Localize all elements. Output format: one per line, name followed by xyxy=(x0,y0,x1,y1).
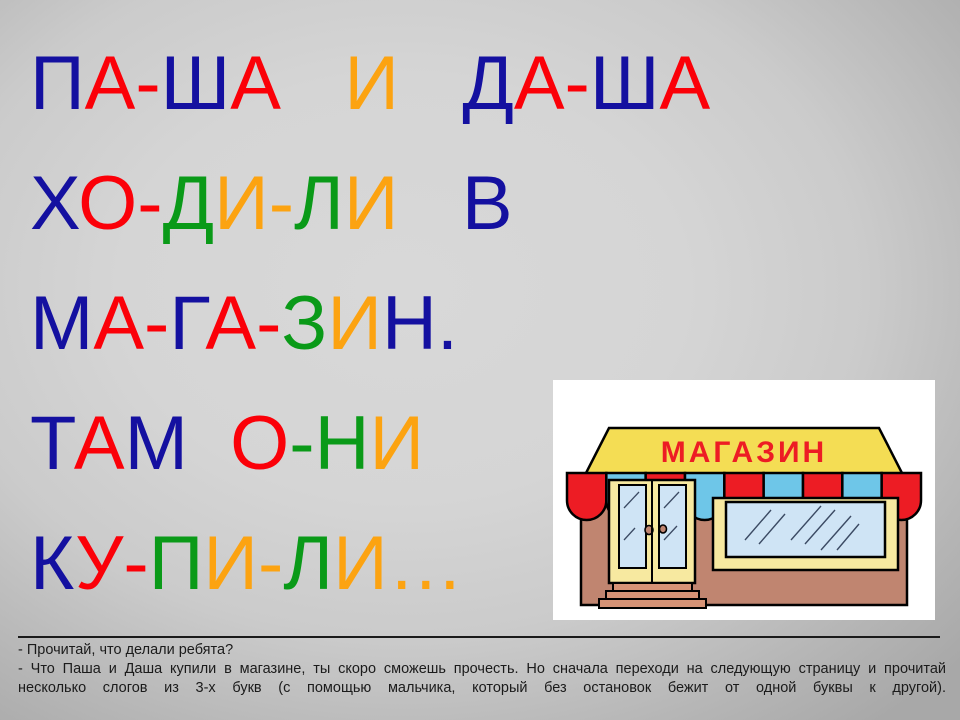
syllable-text-block: ПА-ША И ДА-ШАХО-ДИ-ЛИ ВМА-ГА-ЗИН.ТАМ О-Н… xyxy=(30,24,590,624)
glyph-5-8: И xyxy=(333,521,388,606)
glyph-4-1: Т xyxy=(30,401,74,486)
glyph-5-7: Л xyxy=(283,521,333,606)
shop-svg: МАГАЗИН xyxy=(553,380,935,620)
glyph-3-10: . xyxy=(437,281,458,366)
glyph-2-1: Х xyxy=(30,161,78,246)
glyph-3-4: Г xyxy=(169,281,205,366)
canopy-scallop-1-red xyxy=(567,473,606,520)
door-knob-right[interactable] xyxy=(660,525,667,533)
glyph-3-9: Н xyxy=(382,281,437,366)
glyph-1-5: А xyxy=(230,41,281,126)
syllable-line-1: ПА-ША И ДА-ША xyxy=(30,24,590,144)
glyph-3-2: А xyxy=(93,281,144,366)
glyph-1-10: А xyxy=(514,41,565,126)
glyph-4-2: А xyxy=(74,401,125,486)
glyph-2-9 xyxy=(399,161,462,246)
glyph-1-6 xyxy=(281,41,344,126)
glyph-2-2: О xyxy=(78,161,137,246)
glyph-5-3: - xyxy=(123,521,148,606)
glyph-3-6: - xyxy=(256,281,281,366)
glyph-2-10: В xyxy=(462,161,513,246)
syllable-line-3: МА-ГА-ЗИН. xyxy=(30,264,590,384)
glyph-5-1: К xyxy=(30,521,75,606)
glyph-1-7: И xyxy=(344,41,399,126)
shop-illustration: МАГАЗИН xyxy=(553,380,935,620)
glyph-3-5: А xyxy=(205,281,256,366)
glyph-3-3: - xyxy=(144,281,169,366)
glyph-4-3: М xyxy=(125,401,188,486)
shop-sign-text: МАГАЗИН xyxy=(661,436,827,469)
footer-line-2: - Что Паша и Даша купили в магазине, ты … xyxy=(18,660,946,717)
glyph-1-9: Д xyxy=(462,41,513,126)
glyph-1-11: - xyxy=(565,41,590,126)
glyph-2-6: - xyxy=(269,161,294,246)
glyph-2-3: - xyxy=(137,161,162,246)
glyph-1-4: Ш xyxy=(161,41,231,126)
syllable-line-5: КУ-ПИ-ЛИ… xyxy=(30,504,590,624)
footer-instructions: - Прочитай, что делали ребята? - Что Паш… xyxy=(18,641,946,717)
glyph-1-12: Ш xyxy=(590,41,660,126)
glyph-4-5: О xyxy=(230,401,289,486)
glyph-5-6: - xyxy=(258,521,283,606)
glyph-5-2: У xyxy=(75,521,123,606)
glyph-2-8: И xyxy=(344,161,399,246)
glyph-1-13: А xyxy=(660,41,711,126)
glyph-4-7: Н xyxy=(315,401,370,486)
syllable-line-2: ХО-ДИ-ЛИ В xyxy=(30,144,590,264)
glyph-2-5: И xyxy=(214,161,269,246)
glyph-3-1: М xyxy=(30,281,93,366)
glyph-5-4: П xyxy=(149,521,204,606)
glyph-3-7: З xyxy=(281,281,327,366)
glyph-2-7: Л xyxy=(294,161,344,246)
shop-window-glass xyxy=(726,502,885,557)
glyph-1-2: А xyxy=(85,41,136,126)
glyph-2-4: Д xyxy=(163,161,214,246)
glyph-5-9: … xyxy=(388,521,464,606)
glyph-1-1: П xyxy=(30,41,85,126)
glyph-1-3: - xyxy=(135,41,160,126)
glyph-5-5: И xyxy=(203,521,258,606)
shop-step-2 xyxy=(606,591,699,599)
glyph-4-6: - xyxy=(289,401,314,486)
footer-line-1: - Прочитай, что делали ребята? xyxy=(18,641,946,660)
syllable-line-4: ТАМ О-НИ xyxy=(30,384,590,504)
glyph-1-8 xyxy=(399,41,462,126)
footer-divider xyxy=(18,636,940,638)
glyph-4-4 xyxy=(188,401,230,486)
shop-step-1 xyxy=(613,583,692,591)
shop-step-3 xyxy=(599,599,706,608)
glyph-3-8: И xyxy=(327,281,382,366)
glyph-4-8: И xyxy=(369,401,424,486)
shop-door-glass-left[interactable] xyxy=(619,485,646,568)
slide-canvas: ПА-ША И ДА-ШАХО-ДИ-ЛИ ВМА-ГА-ЗИН.ТАМ О-Н… xyxy=(0,0,960,720)
